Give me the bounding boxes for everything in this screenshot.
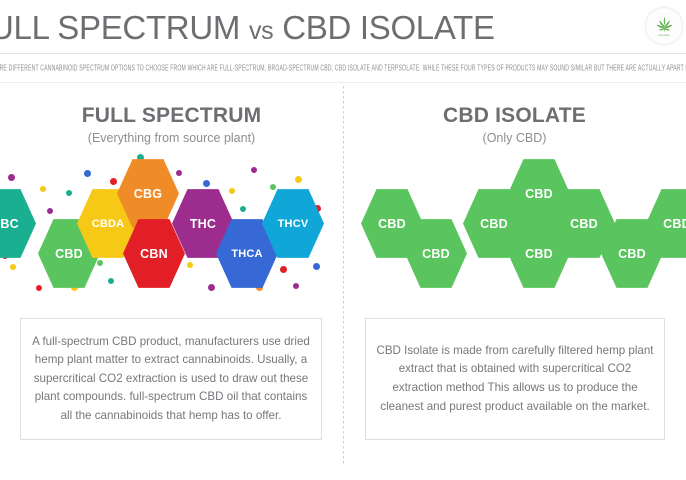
decorative-dot	[97, 260, 103, 266]
cannabinoid-hexagon-cluster: CBCCBDCBDACBGCBNTHCTHCATHCV	[0, 158, 343, 313]
cbd-isolate-subtitle: (Only CBD)	[343, 131, 686, 145]
decorative-dot	[280, 266, 287, 273]
page-title: ULL SPECTRUM vs CBD ISOLATE	[0, 9, 495, 47]
hexagon-label: CBG	[134, 187, 162, 201]
cannabis-leaf-icon	[655, 15, 674, 34]
full-spectrum-title: FULL SPECTRUM	[0, 104, 343, 128]
hexagon-label: CBD	[663, 217, 686, 231]
decorative-dot	[110, 178, 117, 185]
intro-strip: ARE DIFFERENT CANNABINOID SPECTRUM OPTIO…	[0, 56, 686, 82]
cannabinoid-hexagon-cbc: CBC	[0, 188, 36, 259]
decorative-dot	[47, 208, 53, 214]
hexagon-label: CBD	[570, 217, 598, 231]
decorative-dot	[108, 278, 114, 284]
full-spectrum-column: FULL SPECTRUM (Everything from source pl…	[0, 86, 343, 480]
hexagon-label: THCV	[278, 218, 309, 230]
hexagon-label: CBC	[0, 217, 19, 231]
cannabis-leaf-logo: Cannabis	[646, 8, 682, 44]
full-spectrum-description-text: A full-spectrum CBD product, manufacture…	[31, 333, 311, 426]
decorative-dot	[240, 206, 246, 212]
logo-caption: Cannabis	[658, 34, 670, 37]
hexagon-label: CBD	[525, 247, 553, 261]
decorative-dot	[229, 188, 235, 194]
decorative-dot	[203, 180, 210, 187]
hexagon-label: CBD	[480, 217, 508, 231]
hexagon-label: CBD	[422, 247, 450, 261]
cbd-isolate-description-box: CBD Isolate is made from carefully filte…	[365, 318, 665, 440]
cbd-isolate-description-text: CBD Isolate is made from carefully filte…	[376, 342, 654, 416]
hexagon-label: THCA	[231, 248, 262, 260]
full-spectrum-subtitle: (Everything from source plant)	[0, 131, 343, 145]
decorative-dot	[84, 170, 91, 177]
hexagon-label: CBD	[618, 247, 646, 261]
page-title-secondary: CBD ISOLATE	[282, 9, 494, 46]
hexagon-label: CBD	[55, 247, 83, 261]
header-divider-rule	[0, 53, 686, 54]
cbd-hexagon-cluster: CBDCBDCBDCBDCBDCBDCBDCBD	[343, 158, 686, 313]
intro-text: ARE DIFFERENT CANNABINOID SPECTRUM OPTIO…	[0, 64, 686, 73]
hexagon-label: CBDA	[92, 218, 125, 230]
decorative-dot	[251, 167, 257, 173]
decorative-dot	[187, 262, 193, 268]
decorative-dot	[313, 263, 320, 270]
decorative-dot	[176, 170, 182, 176]
cbd-isolate-title: CBD ISOLATE	[343, 104, 686, 128]
hexagon-label: THC	[190, 217, 216, 231]
full-spectrum-description-box: A full-spectrum CBD product, manufacture…	[20, 318, 322, 440]
hexagon-label: CBD	[378, 217, 406, 231]
decorative-dot	[293, 283, 299, 289]
hexagon-label: CBD	[525, 187, 553, 201]
decorative-dot	[270, 184, 276, 190]
page-header: ULL SPECTRUM vs CBD ISOLATE Cannabis	[0, 0, 686, 54]
intro-divider-rule	[0, 82, 686, 83]
page-title-vs: vs	[249, 17, 273, 45]
decorative-dot	[208, 284, 215, 291]
decorative-dot	[8, 174, 15, 181]
decorative-dot	[40, 186, 46, 192]
cbd-isolate-column: CBD ISOLATE (Only CBD) CBDCBDCBDCBDCBDCB…	[343, 86, 686, 480]
decorative-dot	[36, 285, 42, 291]
page-title-primary: ULL SPECTRUM	[0, 9, 240, 46]
decorative-dot	[295, 176, 302, 183]
hexagon-label: CBN	[140, 247, 168, 261]
decorative-dot	[10, 264, 16, 270]
decorative-dot	[66, 190, 72, 196]
